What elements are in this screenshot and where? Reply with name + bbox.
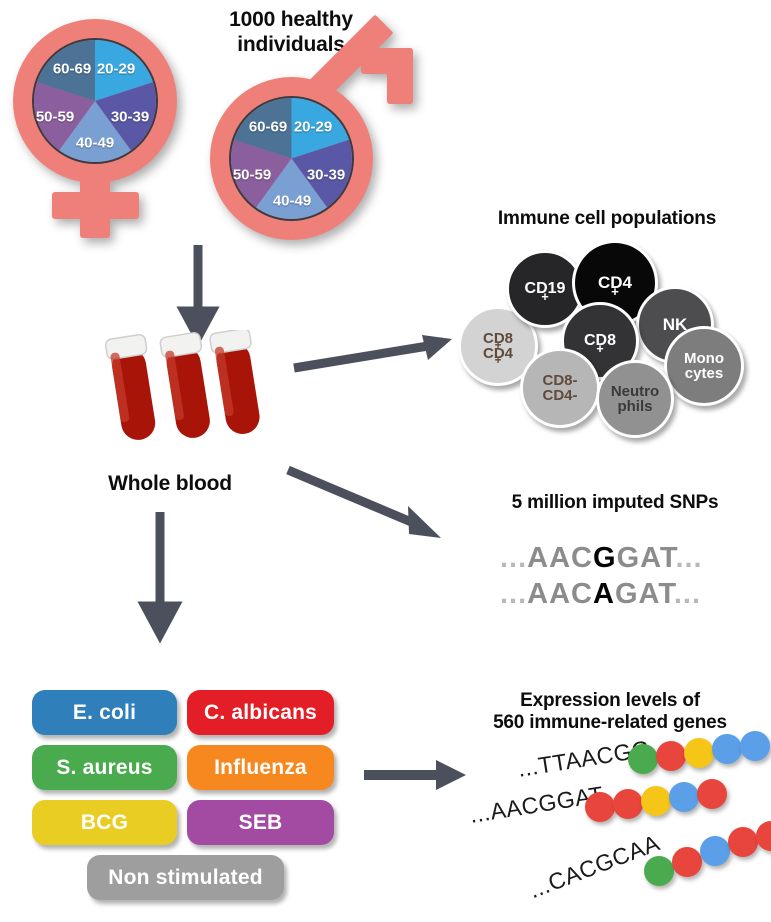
blood-tubes-svg [100, 330, 275, 455]
expression-strand-1-bead-2 [656, 741, 686, 771]
male-pie-label-20-29: 20-29 [294, 119, 332, 136]
snp-bottom-ellipsis-right: ... [674, 578, 701, 610]
female-pie-label-30-39: 30-39 [111, 109, 149, 126]
immune-cell-neutrophils: Neutro phils [596, 360, 674, 438]
expression-strand-3-bead-1 [644, 856, 674, 886]
stimulus-influenza[interactable]: Influenza [187, 745, 334, 790]
immune-cell-cd8neg-cd4neg-line2: CD4- [542, 388, 577, 403]
snp-title: 5 million imputed SNPs [470, 492, 760, 514]
stimulus-seb[interactable]: SEB [187, 800, 334, 845]
blood-tubes-group [100, 330, 275, 455]
arrow-blood-to-snp [286, 458, 456, 553]
immune-cell-monocytes-line2: cytes [684, 366, 724, 381]
immune-cell-cd8pos-cd4pos-line2: CD4+ [483, 346, 513, 361]
male-pie-label-30-39: 30-39 [307, 167, 345, 184]
expression-strand-3-sequence: ...CACGCAA [525, 829, 663, 904]
expression-strand-3-bead-3 [700, 836, 730, 866]
snp-sequence-bottom: ...AACAGAT... [500, 578, 701, 611]
female-pie-label-20-29: 20-29 [97, 61, 135, 78]
snp-sequence-top: ...AACGGAT... [500, 542, 703, 575]
immune-cell-neutrophils-line2: phils [611, 399, 659, 414]
arrow-stimuli-to-expression [362, 755, 472, 795]
stimulus-e-coli[interactable]: E. coli [32, 690, 177, 735]
immune-cell-cd8-label: CD8+ [584, 333, 616, 349]
stimulus-bcg[interactable]: BCG [32, 800, 177, 845]
expression-strand-3-bead-2 [672, 847, 702, 877]
snp-top-suffix: GAT [617, 542, 676, 574]
expression-title: Expression levels of 560 immune-related … [452, 690, 768, 735]
snp-top-ellipsis-right: ... [675, 542, 702, 574]
expression-strand-3-bead-5 [756, 821, 771, 851]
expression-strand-2-bead-1 [585, 792, 615, 822]
expression-title-line2: 560 immune-related genes [452, 712, 768, 734]
immune-cell-monocytes: Mono cytes [664, 326, 744, 406]
female-symbol-crossbar [52, 192, 139, 219]
male-gender-symbol: 20-29 30-39 40-49 50-59 60-69 [205, 38, 430, 243]
immune-populations-title: Immune cell populations [452, 208, 762, 230]
snp-bottom-variant: A [593, 578, 615, 610]
snp-top-variant: G [593, 542, 617, 574]
immune-cell-cd19-label: CD19+ [525, 281, 566, 297]
male-pie-label-40-49: 40-49 [273, 193, 311, 210]
immune-cell-cd8pos-cd4pos-line1: CD8+ [483, 331, 513, 346]
expression-strand-2-bead-3 [641, 786, 671, 816]
snp-bottom-prefix: AAC [527, 578, 593, 610]
expression-strand-3: ...CACGCAA [540, 828, 770, 898]
arrow-blood-to-immune [292, 330, 457, 380]
expression-strand-2-bead-2 [613, 789, 643, 819]
expression-strand-3-bead-4 [728, 827, 758, 857]
snp-bottom-ellipsis-left: ... [500, 578, 527, 610]
expression-strand-1-bead-5 [740, 731, 770, 761]
expression-title-line1: Expression levels of [452, 690, 768, 712]
female-pie-label-50-59: 50-59 [36, 109, 74, 126]
stimulus-non-stimulated[interactable]: Non stimulated [87, 855, 284, 900]
expression-strand-1-bead-3 [684, 738, 714, 768]
male-pie-label-50-59: 50-59 [233, 167, 271, 184]
female-gender-symbol: 20-29 30-39 40-49 50-59 60-69 [8, 14, 188, 239]
figure-canvas: 1000 healthy individuals 20- [0, 0, 771, 922]
immune-cell-cd8neg-cd4neg-line1: CD8- [542, 373, 577, 388]
female-pie-label-60-69: 60-69 [53, 61, 91, 78]
stimulus-c-albicans[interactable]: C. albicans [187, 690, 334, 735]
immune-cell-cd8neg-cd4neg: CD8- CD4- [520, 348, 600, 428]
arrow-blood-to-stimuli [140, 512, 180, 642]
immune-cell-monocytes-line1: Mono [684, 351, 724, 366]
male-symbol-arrowhead-side [387, 48, 413, 104]
expression-strand-2-bead-4 [669, 782, 699, 812]
snp-bottom-suffix: GAT [615, 578, 674, 610]
expression-strand-2-bead-5 [697, 779, 727, 809]
male-pie-label-60-69: 60-69 [249, 119, 287, 136]
female-pie-label-40-49: 40-49 [76, 135, 114, 152]
immune-cell-neutrophils-line1: Neutro [611, 384, 659, 399]
expression-strand-1-bead-4 [712, 734, 742, 764]
stimulus-s-aureus[interactable]: S. aureus [32, 745, 177, 790]
snp-top-ellipsis-left: ... [500, 542, 527, 574]
immune-cells-group: CD8+ CD4+ CD19+ CD4+ [448, 238, 758, 418]
snp-top-prefix: AAC [527, 542, 593, 574]
expression-strand-1-bead-1 [628, 744, 658, 774]
immune-cell-cd4-label: CD4+ [598, 274, 632, 291]
whole-blood-label: Whole blood [70, 472, 270, 497]
